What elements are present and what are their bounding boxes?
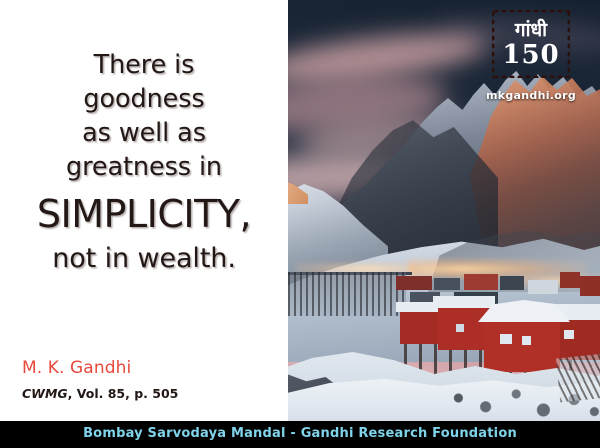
village-building	[528, 280, 558, 294]
quote-text: There is goodness as well as greatness i…	[0, 48, 288, 277]
village-building	[500, 276, 524, 290]
logo-devanagari-text: गांधी	[495, 20, 567, 41]
house-window	[522, 336, 531, 345]
logo-website-url: mkgandhi.org	[479, 89, 583, 102]
gandhi-150-logo: गांधी 150 mkgandhi.org	[495, 13, 567, 75]
quote-citation: CWMG, Vol. 85, p. 505	[22, 386, 178, 401]
wooden-jetty	[556, 354, 600, 403]
quote-emphasis-line: SIMPLICITY,	[0, 190, 288, 239]
mountain-village-photo: गांधी 150 mkgandhi.org	[288, 0, 600, 421]
quote-closing-line: not in wealth.	[0, 241, 288, 277]
house-window	[500, 334, 512, 344]
red-house-main	[484, 318, 560, 372]
house-window	[456, 324, 464, 332]
village-building	[580, 276, 600, 296]
footer-organisation-text: Bombay Sarvodaya Mandal - Gandhi Researc…	[0, 426, 600, 441]
village-building	[560, 272, 580, 288]
quote-line-2: goodness	[0, 82, 288, 116]
quote-poster: There is goodness as well as greatness i…	[0, 0, 600, 448]
citation-work: CWMG	[22, 386, 68, 401]
fish-drying-racks	[288, 272, 406, 316]
village-building	[434, 278, 460, 290]
quote-panel: There is goodness as well as greatness i…	[0, 0, 288, 421]
citation-reference: , Vol. 85, p. 505	[68, 386, 179, 401]
quote-line-4: greatness in	[0, 150, 288, 184]
quote-line-1: There is	[0, 48, 288, 82]
village-building	[464, 274, 498, 290]
footer-bar: Bombay Sarvodaya Mandal - Gandhi Researc…	[0, 421, 600, 448]
logo-anniversary-number: 150	[495, 41, 567, 69]
red-house	[438, 306, 490, 350]
village-building	[396, 276, 432, 290]
house-window	[564, 330, 574, 339]
house-roof	[433, 296, 495, 308]
quote-author: M. K. Gandhi	[22, 358, 131, 378]
quote-line-3: as well as	[0, 116, 288, 150]
